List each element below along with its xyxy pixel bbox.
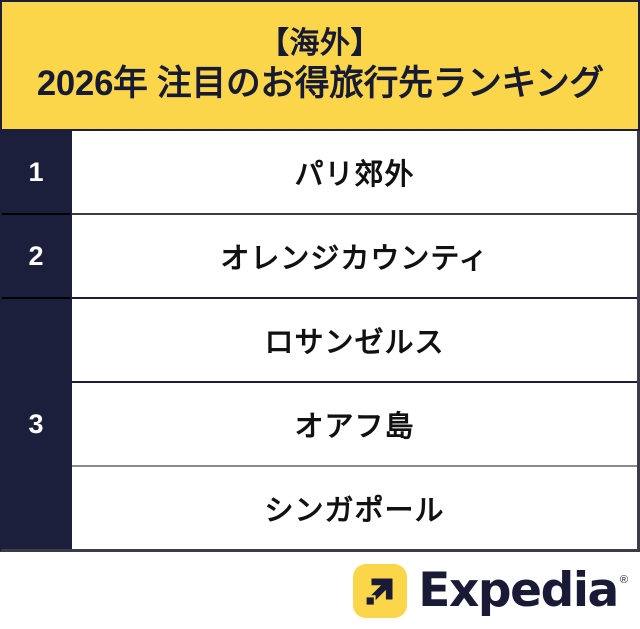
- registered-trademark-symbol: ®: [620, 575, 628, 586]
- category-label: 【海外】: [259, 27, 381, 62]
- footer: Expedia ®: [0, 552, 640, 629]
- rank-column: 1 2 3: [2, 131, 70, 549]
- table-row: シンガポール: [72, 467, 637, 549]
- arrow-up-right-icon: [353, 564, 407, 618]
- destination-column: パリ郊外 オレンジカウンティ ロサンゼルス オアフ島 シンガポール: [70, 131, 637, 549]
- rank-cell-1: 1: [2, 131, 70, 215]
- rank-cell-2: 2: [2, 215, 70, 299]
- header-banner: 【海外】 2026年 注目のお得旅行先ランキング: [0, 0, 640, 131]
- rank-cell-3: 3: [2, 299, 70, 549]
- brand-name: Expedia: [418, 567, 618, 614]
- table-row: ロサンゼルス: [72, 299, 637, 383]
- table-row: オレンジカウンティ: [72, 215, 637, 299]
- table-row: オアフ島: [72, 383, 637, 467]
- brand-wordmark: Expedia ®: [418, 567, 628, 614]
- ranking-infographic: 【海外】 2026年 注目のお得旅行先ランキング 1 2 3 パリ郊外 オレンジ…: [0, 0, 640, 629]
- page-title: 2026年 注目のお得旅行先ランキング: [36, 64, 603, 104]
- expedia-logo: Expedia ®: [353, 564, 628, 618]
- ranking-table: 1 2 3 パリ郊外 オレンジカウンティ ロサンゼルス オアフ島 シンガポール: [0, 131, 640, 552]
- table-row: パリ郊外: [72, 131, 637, 215]
